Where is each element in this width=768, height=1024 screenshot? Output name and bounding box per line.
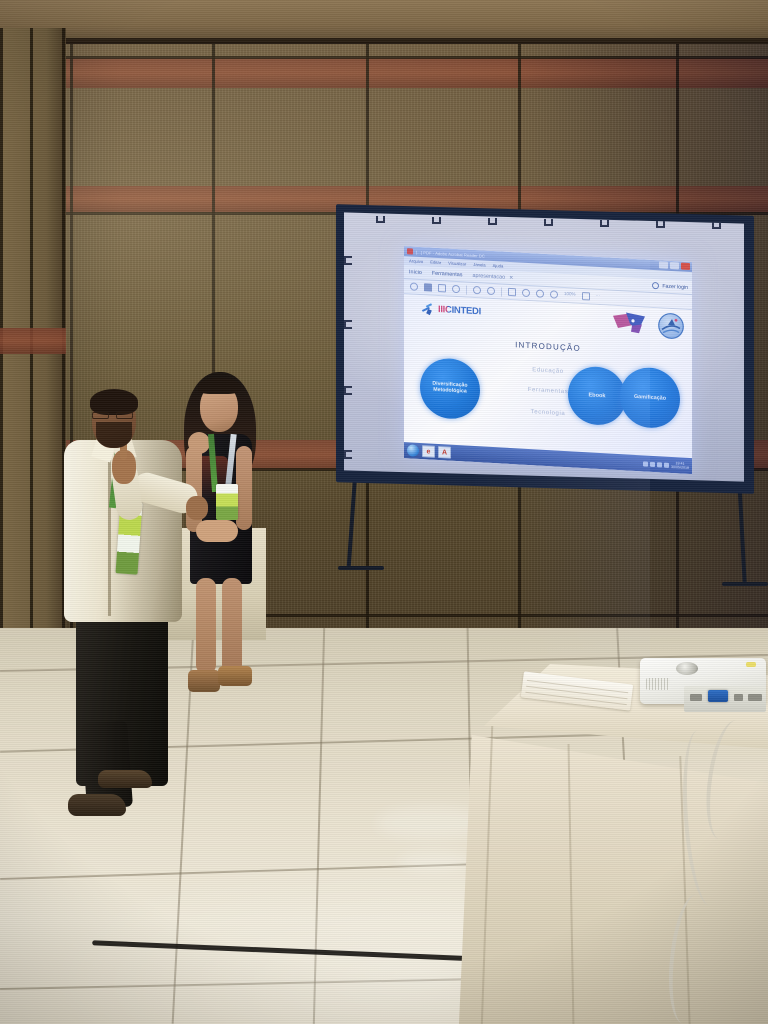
projection-screen-assembly: [...] PDF - Adobe Acrobat Reader DC Arqu… [336, 210, 756, 500]
projector [640, 658, 766, 728]
volume-icon[interactable] [664, 462, 669, 467]
page-up-icon[interactable] [473, 286, 481, 294]
screen-clip-6 [656, 221, 665, 228]
tab-document[interactable]: apresentacao [472, 272, 505, 280]
more-icon[interactable]: ··· [596, 293, 601, 301]
screen-clip-8 [344, 256, 352, 265]
maximize-button[interactable] [670, 262, 679, 270]
right-leg [222, 578, 242, 674]
screen-clip-1 [376, 216, 385, 223]
right-sandal [218, 666, 252, 686]
taskbar-clock[interactable]: 19:41 30/05/2018 [671, 461, 689, 470]
pdf-document-icon [407, 248, 413, 254]
projector-lens [676, 662, 698, 675]
screen-clip-11 [344, 450, 352, 459]
menu-ajuda[interactable]: Ajuda [493, 263, 504, 269]
toolbar-separator-1 [466, 285, 467, 294]
vga-connector [708, 690, 728, 702]
front-table [452, 664, 768, 1024]
screen-foot-left [338, 566, 384, 570]
zoom-in-icon[interactable] [550, 290, 558, 298]
print-icon[interactable] [424, 283, 432, 291]
shirt-placket [108, 450, 111, 616]
slide-canvas: IIICINTEDI [404, 294, 692, 458]
signin-label[interactable]: Fazer login [662, 283, 688, 290]
slide-circle-gamificacao-label: Gamificação [634, 394, 666, 402]
right-arm [236, 446, 252, 530]
front-shoe [68, 794, 126, 816]
photo-scene: [...] PDF - Adobe Acrobat Reader DC Arqu… [0, 0, 768, 1024]
storage-icon[interactable] [650, 461, 655, 466]
zoom-level-label[interactable]: 100% [564, 291, 576, 300]
close-button[interactable] [681, 263, 690, 271]
select-tool-icon[interactable] [508, 288, 516, 296]
glasses-icon [92, 412, 136, 419]
internet-browser-icon[interactable]: e [422, 445, 435, 458]
slide-circle-diversificacao-label: Diversificação Metodológica [426, 381, 474, 396]
fit-width-icon[interactable] [582, 292, 590, 300]
menu-visualizar[interactable]: Visualizar [448, 261, 466, 267]
save-icon[interactable] [410, 282, 418, 290]
search-icon[interactable] [452, 285, 460, 293]
menu-arquivo[interactable]: Arquivo [409, 258, 423, 264]
toolbar-separator-2 [501, 287, 502, 296]
windows-start-orb-icon[interactable] [407, 444, 419, 457]
realize-evento-logo [612, 311, 646, 335]
tab-close-icon[interactable]: ✕ [509, 274, 513, 280]
menu-janela[interactable]: Janela [473, 262, 485, 268]
projector-port-3 [748, 694, 762, 701]
zoom-out-icon[interactable] [536, 289, 544, 297]
clock-date: 30/05/2018 [671, 465, 689, 470]
beard [96, 422, 132, 448]
network-icon[interactable] [643, 461, 648, 466]
menu-editar[interactable]: Editar [430, 260, 441, 266]
slide-title: INTRODUÇÃO [404, 334, 692, 359]
window-buttons[interactable] [659, 261, 690, 270]
projector-indicator-light [746, 662, 756, 667]
screen-clip-3 [488, 218, 497, 225]
email-icon[interactable] [438, 284, 446, 292]
slide-circle-ebook-label: Ebook [588, 392, 605, 399]
projector-vent [646, 678, 670, 690]
right-hand [186, 496, 208, 520]
minimize-button[interactable] [659, 261, 668, 269]
tab-ferramentas[interactable]: Ferramentas [432, 270, 463, 278]
circular-seal-logo [658, 312, 684, 339]
hand-tool-icon[interactable] [522, 289, 530, 297]
screen-clip-9 [344, 320, 352, 329]
system-tray: 19:41 30/05/2018 [643, 459, 689, 470]
cintedi-logo-text: IIICINTEDI [438, 304, 481, 317]
screen-surface: [...] PDF - Adobe Acrobat Reader DC Arqu… [344, 212, 744, 481]
screen-clip-2 [432, 217, 441, 224]
screen-clip-5 [600, 220, 609, 227]
screen-foot-right [722, 582, 768, 586]
conference-badge [216, 484, 238, 520]
signin-area[interactable]: Fazer login [652, 282, 688, 291]
cintedi-arrow-icon [422, 303, 435, 315]
ceiling [0, 0, 768, 42]
adobe-acrobat-icon[interactable]: A [438, 446, 451, 459]
screen-clip-4 [544, 219, 553, 226]
window-title: [...] PDF - Adobe Acrobat Reader DC [416, 249, 485, 258]
page-down-icon[interactable] [487, 287, 495, 295]
screen-clip-7 [712, 222, 721, 229]
back-shoe [98, 770, 152, 788]
projector-port-2 [734, 694, 743, 701]
projected-pdf-reader-window: [...] PDF - Adobe Acrobat Reader DC Arqu… [404, 246, 692, 474]
presenter-male [56, 392, 206, 840]
screen-clip-10 [344, 386, 352, 395]
projector-port-1 [690, 694, 702, 701]
cintedi-logo: IIICINTEDI [422, 303, 481, 317]
show-hidden-icon[interactable] [657, 462, 662, 467]
tab-inicio[interactable]: Início [409, 269, 422, 276]
account-circle-icon [652, 282, 659, 289]
